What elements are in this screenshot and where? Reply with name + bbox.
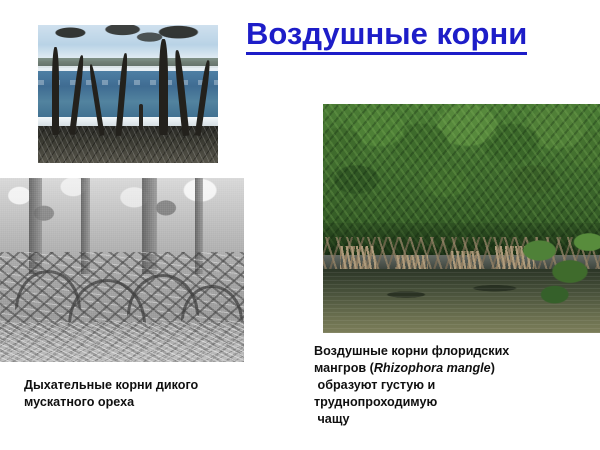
image-shoreline-mangroves bbox=[38, 25, 218, 163]
muddy-bank bbox=[38, 126, 218, 163]
tree-trunk bbox=[159, 39, 168, 136]
standing-figure bbox=[139, 104, 143, 130]
image-breathing-roots-bw bbox=[0, 178, 244, 362]
caption-florida-mangroves: Воздушные корни флоридских мангров (Rhiz… bbox=[314, 343, 582, 427]
caption-text: ) bbox=[491, 361, 495, 375]
caption-line: чащу bbox=[314, 411, 582, 428]
shoreline-scene bbox=[38, 25, 218, 163]
caption-line: Воздушные корни флоридских bbox=[314, 343, 582, 360]
species-name: Rhizophora mangle bbox=[374, 361, 491, 375]
foreground-bush bbox=[511, 219, 600, 324]
slide: Воздушные корни bbox=[0, 0, 600, 450]
caption-line: мускатного ореха bbox=[24, 394, 254, 411]
caption-line: образуют густую и bbox=[314, 377, 582, 394]
caption-line: Дыхательные корни дикого bbox=[24, 377, 254, 394]
film-grain bbox=[0, 178, 244, 362]
caption-text: мангров ( bbox=[314, 361, 374, 375]
page-title: Воздушные корни bbox=[246, 18, 527, 55]
image-florida-mangrove-thicket bbox=[323, 104, 600, 333]
breathing-roots-scene bbox=[0, 178, 244, 362]
tree-trunk bbox=[52, 47, 59, 135]
caption-breathing-roots: Дыхательные корни дикого мускатного орех… bbox=[24, 377, 254, 411]
mangrove-scene bbox=[323, 104, 600, 333]
caption-line: мангров (Rhizophora mangle) bbox=[314, 360, 582, 377]
caption-line: труднопроходимую bbox=[314, 394, 582, 411]
branch-canopy bbox=[38, 25, 218, 80]
